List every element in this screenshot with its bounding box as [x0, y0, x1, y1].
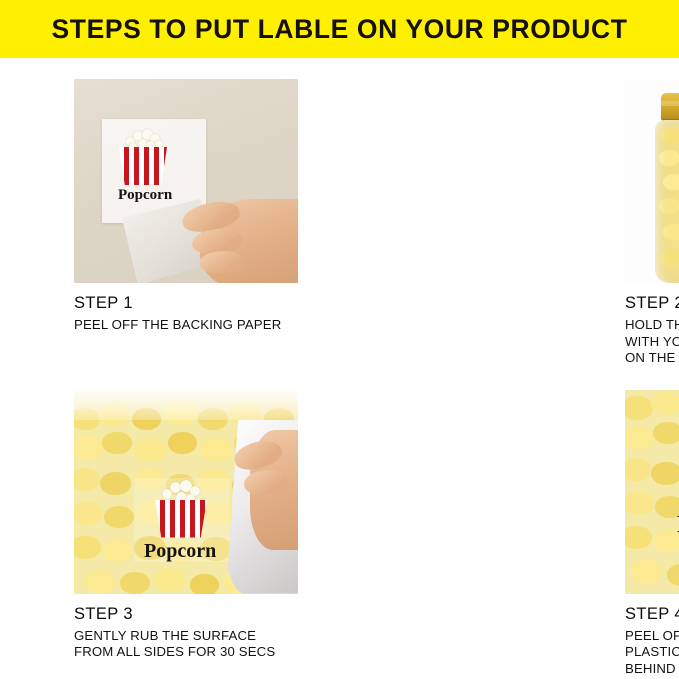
step-4-label: STEP 4	[625, 605, 679, 624]
sticker-wordmark: Popcorn	[144, 540, 216, 563]
step-4-caption: STEP 4 PEEL OFF THE TRANSPARENT PLASTIC …	[625, 605, 679, 678]
step-3-label: STEP 3	[74, 605, 314, 624]
rub-surface-photo: Popcorn	[74, 390, 298, 594]
step-2-caption: STEP 2 HOLD THE TRANSPARENT STICKER WITH…	[625, 294, 679, 367]
header-banner: STEPS TO PUT LABLE ON YOUR PRODUCT	[0, 0, 679, 58]
step-3-description: GENTLY RUB THE SURFACE FROM ALL SIDES FO…	[74, 628, 314, 661]
step-1-cell: Popcorn STEP 1 PEEL OFF THE BACKING PAPE…	[0, 58, 326, 369]
infographic-page: STEPS TO PUT LABLE ON YOUR PRODUCT	[0, 0, 679, 679]
step-3-cell: Popcorn STEP 3 GENTLY RUB THE SURFACE FR…	[0, 369, 326, 679]
steps-grid: Popcorn STEP 1 PEEL OFF THE BACKING PAPE…	[0, 58, 679, 679]
ring-finger	[200, 250, 245, 274]
step-3-caption: STEP 3 GENTLY RUB THE SURFACE FROM ALL S…	[74, 605, 314, 661]
page-title: STEPS TO PUT LABLE ON YOUR PRODUCT	[52, 14, 628, 45]
step-1-label: STEP 1	[74, 294, 314, 313]
popcorn-box	[155, 500, 207, 538]
step-4-cell: Popcorn STEP 4 PEEL OFF THE TRANSPARENT …	[326, 369, 679, 679]
peel-film-photo: Popcorn	[625, 390, 679, 594]
applied-label: Popcorn	[669, 438, 679, 548]
step-2-cell: Popcorn STEP 2 HOLD THE TRANSPARENT STIC…	[326, 58, 679, 369]
jar-rim	[74, 390, 298, 420]
step-2-label: STEP 2	[625, 294, 679, 313]
jar-body	[655, 120, 679, 283]
applied-sticker: Popcorn	[134, 478, 230, 562]
jar-placement-photo: Popcorn	[625, 79, 679, 283]
jar-lid	[661, 93, 679, 121]
popcorn-tub-icon	[116, 129, 170, 187]
popcorn-tub-icon	[152, 480, 210, 538]
sticker-wordmark: Popcorn	[118, 187, 172, 204]
popcorn-box	[119, 147, 167, 185]
step-1-description: PEEL OFF THE BACKING PAPER	[74, 317, 314, 334]
step-2-description: HOLD THE TRANSPARENT STICKER WITH YOUR F…	[625, 317, 679, 367]
glass-jar: Popcorn	[655, 93, 679, 283]
sticker-peel-photo: Popcorn	[74, 79, 298, 283]
step-4-description: PEEL OFF THE TRANSPARENT PLASTIC FILM SL…	[625, 628, 679, 678]
step-1-caption: STEP 1 PEEL OFF THE BACKING PAPER	[74, 294, 314, 334]
